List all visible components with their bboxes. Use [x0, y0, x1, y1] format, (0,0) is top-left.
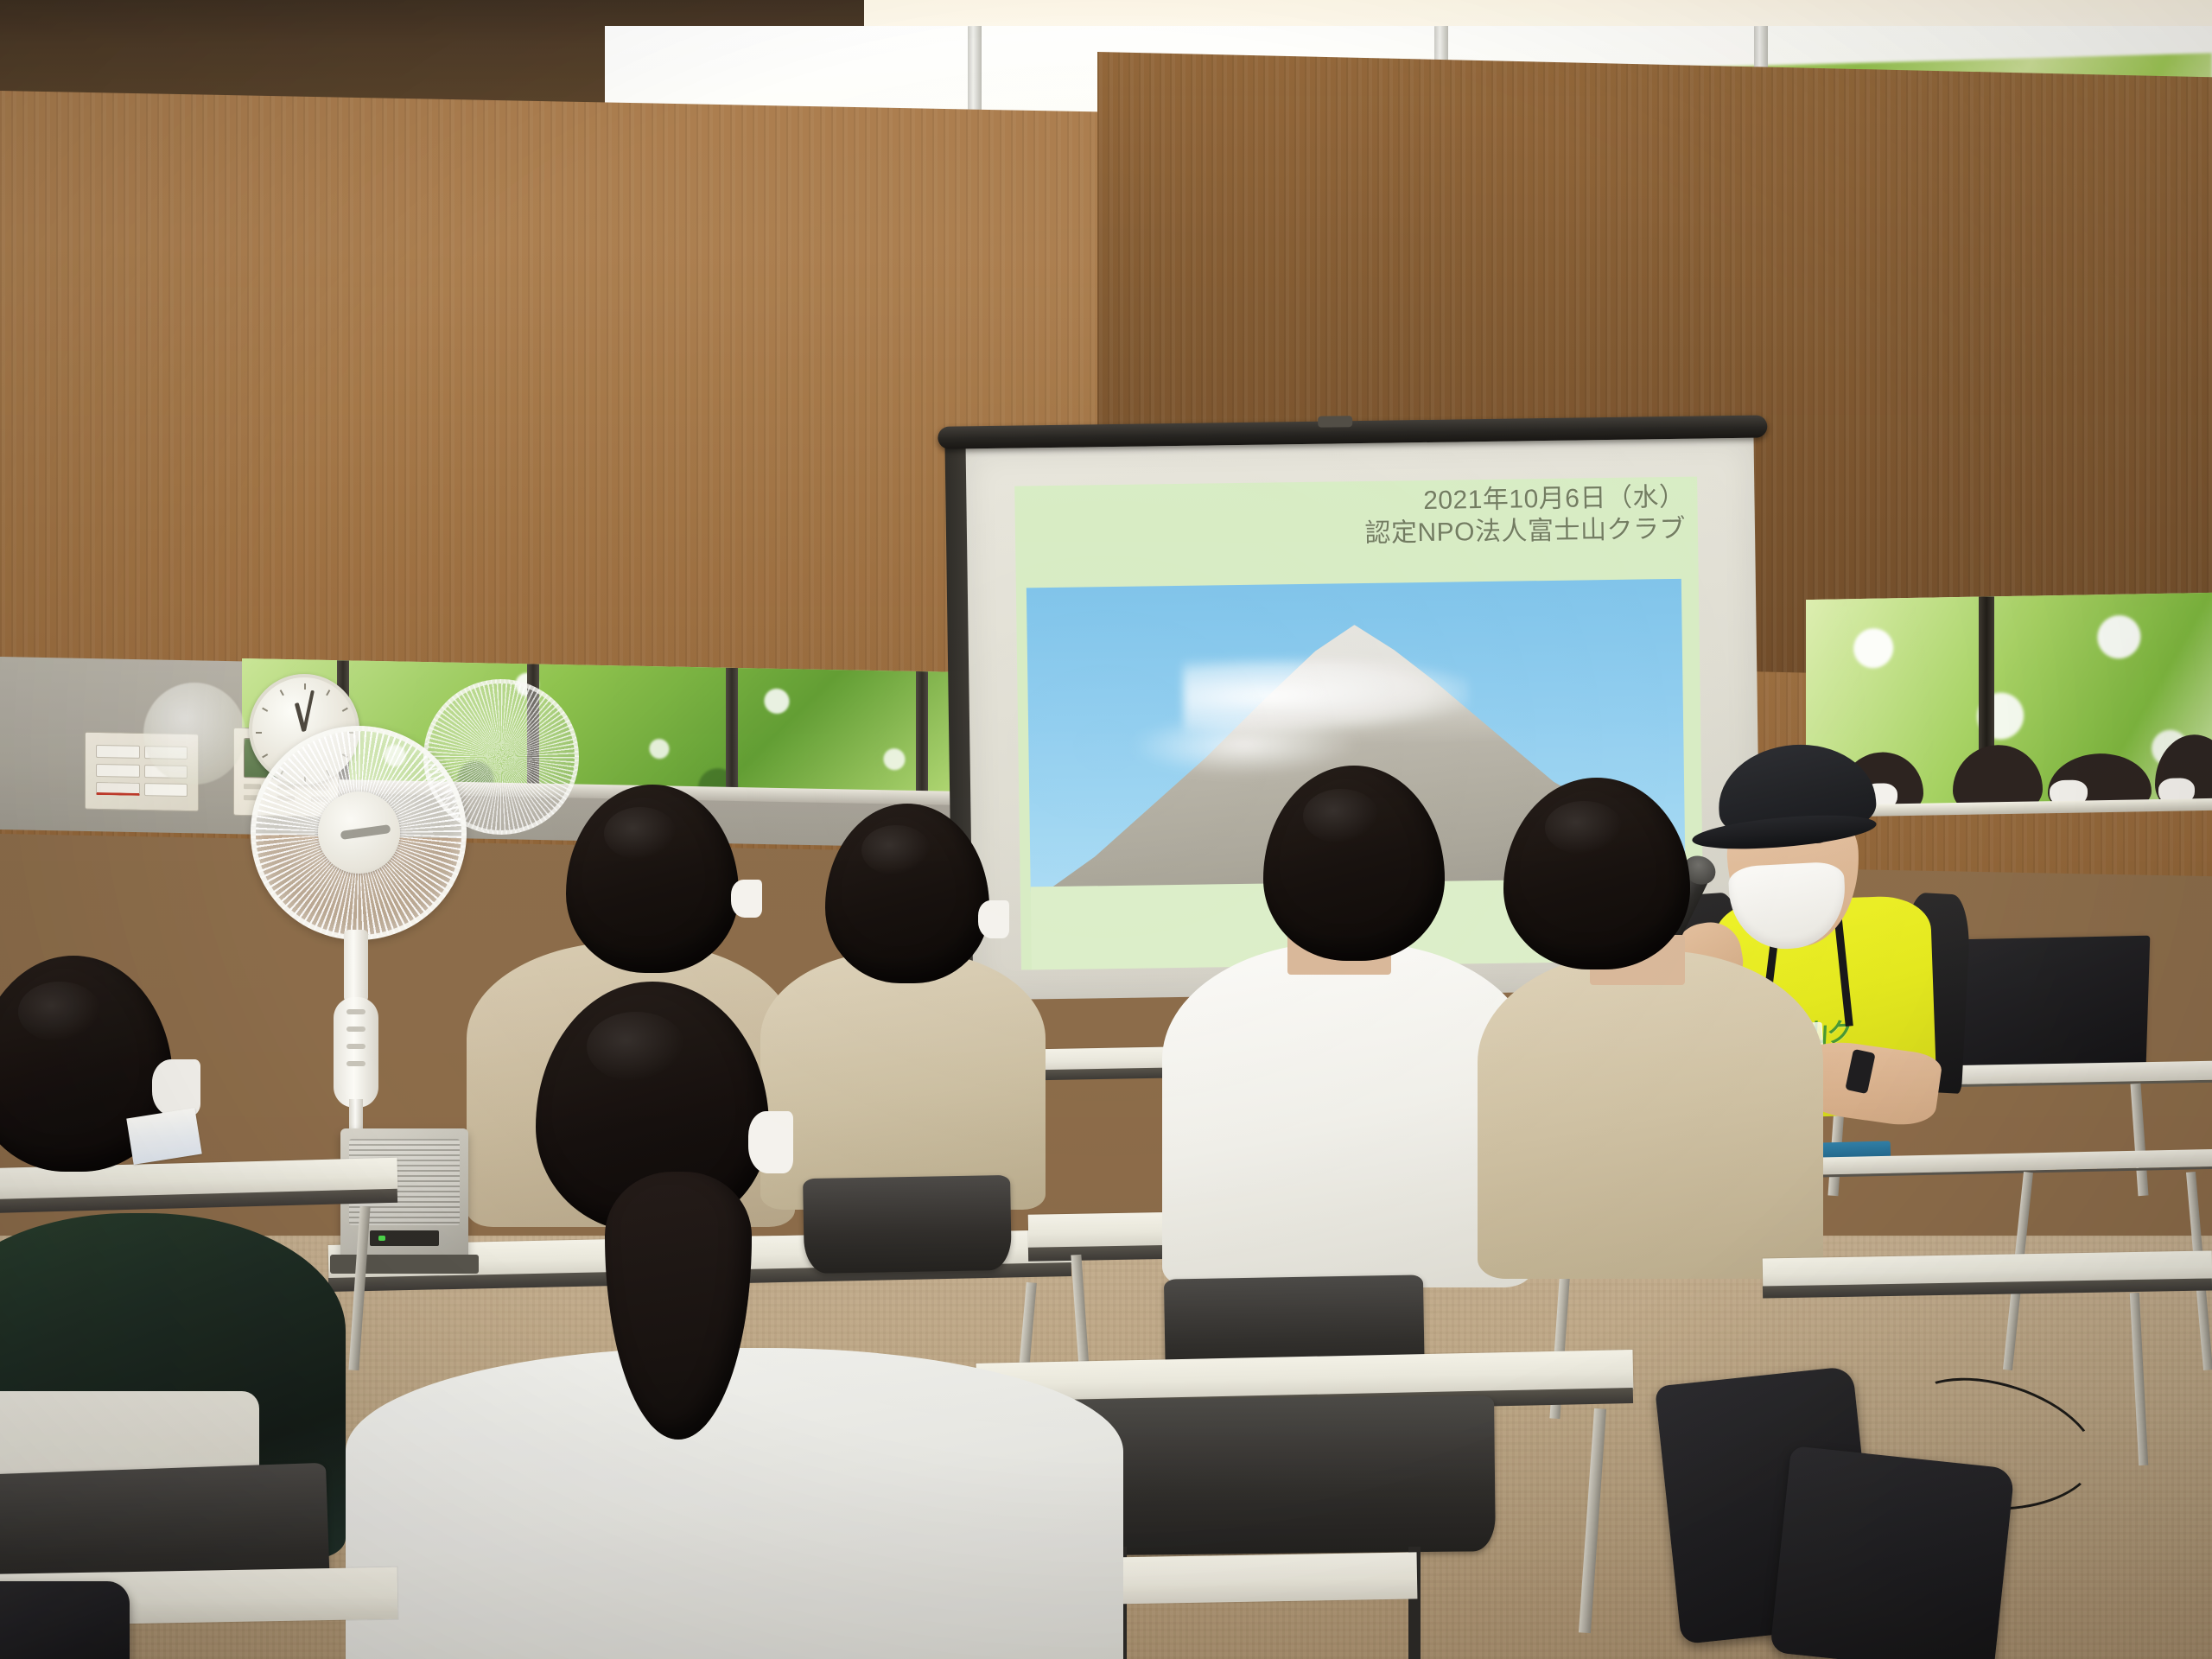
window-frame [916, 671, 928, 801]
held-item [126, 1108, 201, 1165]
desk-leg [2130, 1084, 2148, 1197]
fan-neck [344, 930, 368, 1002]
slide-organization: 認定NPO法人富士山クラブ [1364, 513, 1686, 550]
chair[interactable] [803, 1175, 1012, 1274]
face-mask [748, 1111, 793, 1173]
slide-header-text: 2021年10月6日（水） 認定NPO法人富士山クラブ [1364, 482, 1687, 550]
bag [0, 1581, 130, 1659]
backpack [1770, 1446, 2015, 1659]
screen-pull-knob[interactable] [1318, 416, 1352, 428]
torso [760, 950, 1046, 1210]
air-purifier-base [330, 1255, 479, 1274]
switch-button[interactable] [96, 764, 140, 778]
switch-button[interactable] [144, 783, 188, 797]
classroom-photo: 2021年10月6日（水） 認定NPO法人富士山クラブ 富士山 [0, 0, 2212, 1659]
slide-date: 2021年10月6日（水） [1364, 482, 1686, 518]
fan-control-panel[interactable] [334, 997, 378, 1108]
switch-button[interactable] [96, 745, 140, 759]
cloud [1132, 713, 1357, 777]
laptop[interactable] [1958, 936, 2151, 1071]
fan-hub [318, 791, 400, 874]
electric-fan [251, 726, 467, 1175]
window-frame [726, 668, 738, 798]
switch-button[interactable] [96, 782, 140, 796]
torso [1478, 950, 1823, 1279]
face-mask [978, 900, 1009, 938]
clock-reflection [143, 683, 245, 785]
power-led [378, 1236, 385, 1241]
face-mask [731, 880, 762, 918]
torso [346, 1348, 1123, 1659]
